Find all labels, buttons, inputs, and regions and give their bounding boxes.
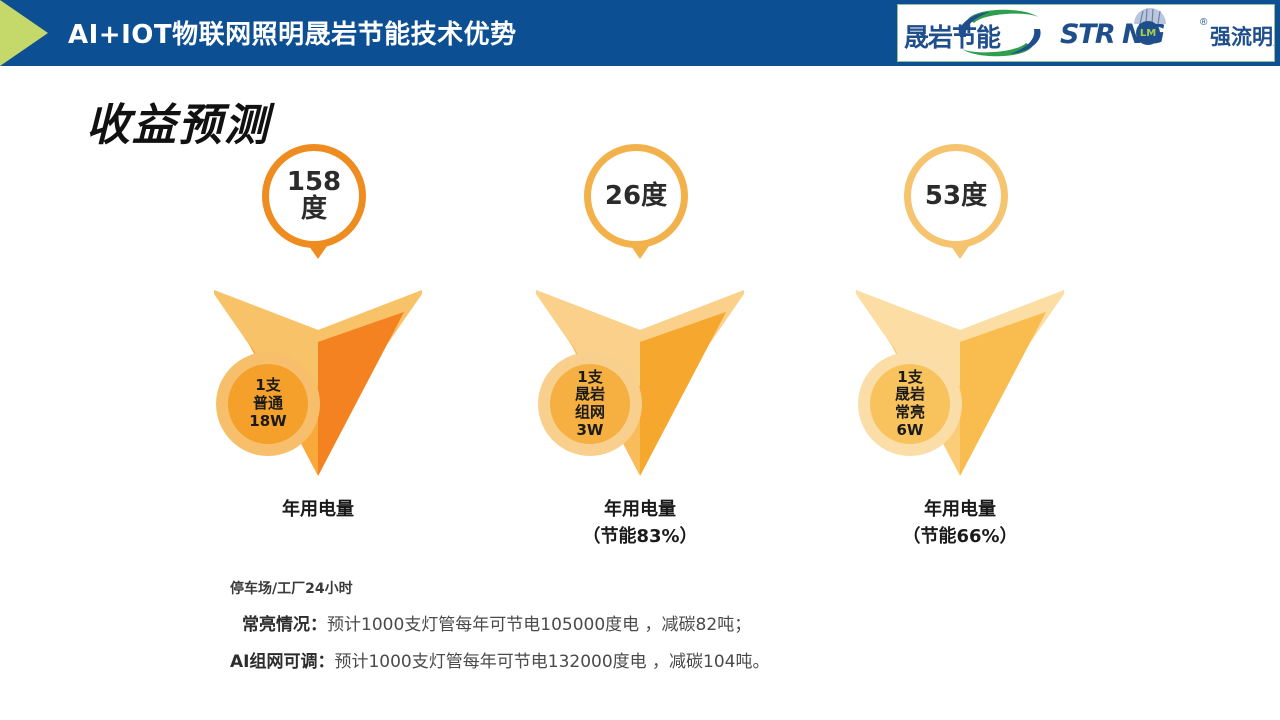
footnote-lead: 常亮情况： <box>242 615 327 635</box>
chevron-right-icon <box>0 0 48 66</box>
pin-value-label: 26度 <box>605 183 667 210</box>
bulb-label: 1支 普通 18W <box>228 364 308 444</box>
footnote-line: 常亮情况：预计1000支灯管每年可节电105000度电 ，减碳82吨； <box>230 610 1130 635</box>
footnote-head: 停车场/工厂24小时 <box>230 578 1130 598</box>
logo-qiangliuming-text: 强流明照明 <box>1210 21 1275 51</box>
logo-lm-badge: LM <box>1136 21 1160 45</box>
brand-logo: 晟岩节能 STR NG LM ® 强流明照明 <box>897 4 1275 62</box>
funnel-caption: 年用电量 （节能83%） <box>490 496 790 550</box>
pin-marker: 158 度 <box>262 144 374 272</box>
funnel-caption-main: 年用电量 <box>282 499 354 520</box>
logo-shengyan: 晟岩节能 <box>898 5 1058 61</box>
pin-marker: 26度 <box>584 144 696 272</box>
pin-marker: 53度 <box>904 144 1016 272</box>
bulb-label: 1支 晟岩 常亮 6W <box>870 364 950 444</box>
funnel-caption-main: 年用电量 <box>604 499 676 520</box>
funnel-group: 53度 1支 晟岩 常亮 6W 年用电量 （节能66%） <box>810 140 1110 560</box>
funnel-caption-sub: （节能66%） <box>810 523 1110 550</box>
footnotes: 停车场/工厂24小时 常亮情况：预计1000支灯管每年可节电105000度电 ，… <box>230 578 1130 672</box>
logo-strong: STR NG LM ® 强流明照明 <box>1058 5 1274 61</box>
page-title: AI+IOT物联网照明晟岩节能技术优势 <box>68 14 517 51</box>
pin-circle: 26度 <box>584 144 688 248</box>
registered-icon: ® <box>1200 17 1207 28</box>
funnel-caption: 年用电量 （节能66%） <box>810 496 1110 550</box>
footnote-line: AI组网可调：预计1000支灯管每年可节电132000度电 ，减碳104吨。 <box>230 647 1130 672</box>
pin-circle: 53度 <box>904 144 1008 248</box>
footnote-lead: AI组网可调： <box>230 652 334 672</box>
footnote-body: 预计1000支灯管每年可节电105000度电 ，减碳82吨； <box>327 615 751 635</box>
bulb-label: 1支 晟岩 组网 3W <box>550 364 630 444</box>
logo-shengyan-text: 晟岩节能 <box>904 18 1000 54</box>
pin-circle: 158 度 <box>262 144 366 248</box>
bulb-badge: 1支 晟岩 常亮 6W <box>858 352 962 456</box>
bulb-badge: 1支 晟岩 组网 3W <box>538 352 642 456</box>
funnel-caption-main: 年用电量 <box>924 499 996 520</box>
pin-value-label: 158 度 <box>287 169 341 222</box>
funnel-caption: 年用电量 <box>168 496 468 523</box>
funnel-group: 26度 1支 晟岩 组网 3W 年用电量 （节能83%） <box>490 140 790 560</box>
bulb-badge: 1支 普通 18W <box>216 352 320 456</box>
footnote-body: 预计1000支灯管每年可节电132000度电 ，减碳104吨。 <box>334 652 769 672</box>
funnel-group: 158 度 1支 普通 18W 年用电量 <box>168 140 468 560</box>
pin-value-label: 53度 <box>925 183 987 210</box>
funnel-caption-sub: （节能83%） <box>490 523 790 550</box>
